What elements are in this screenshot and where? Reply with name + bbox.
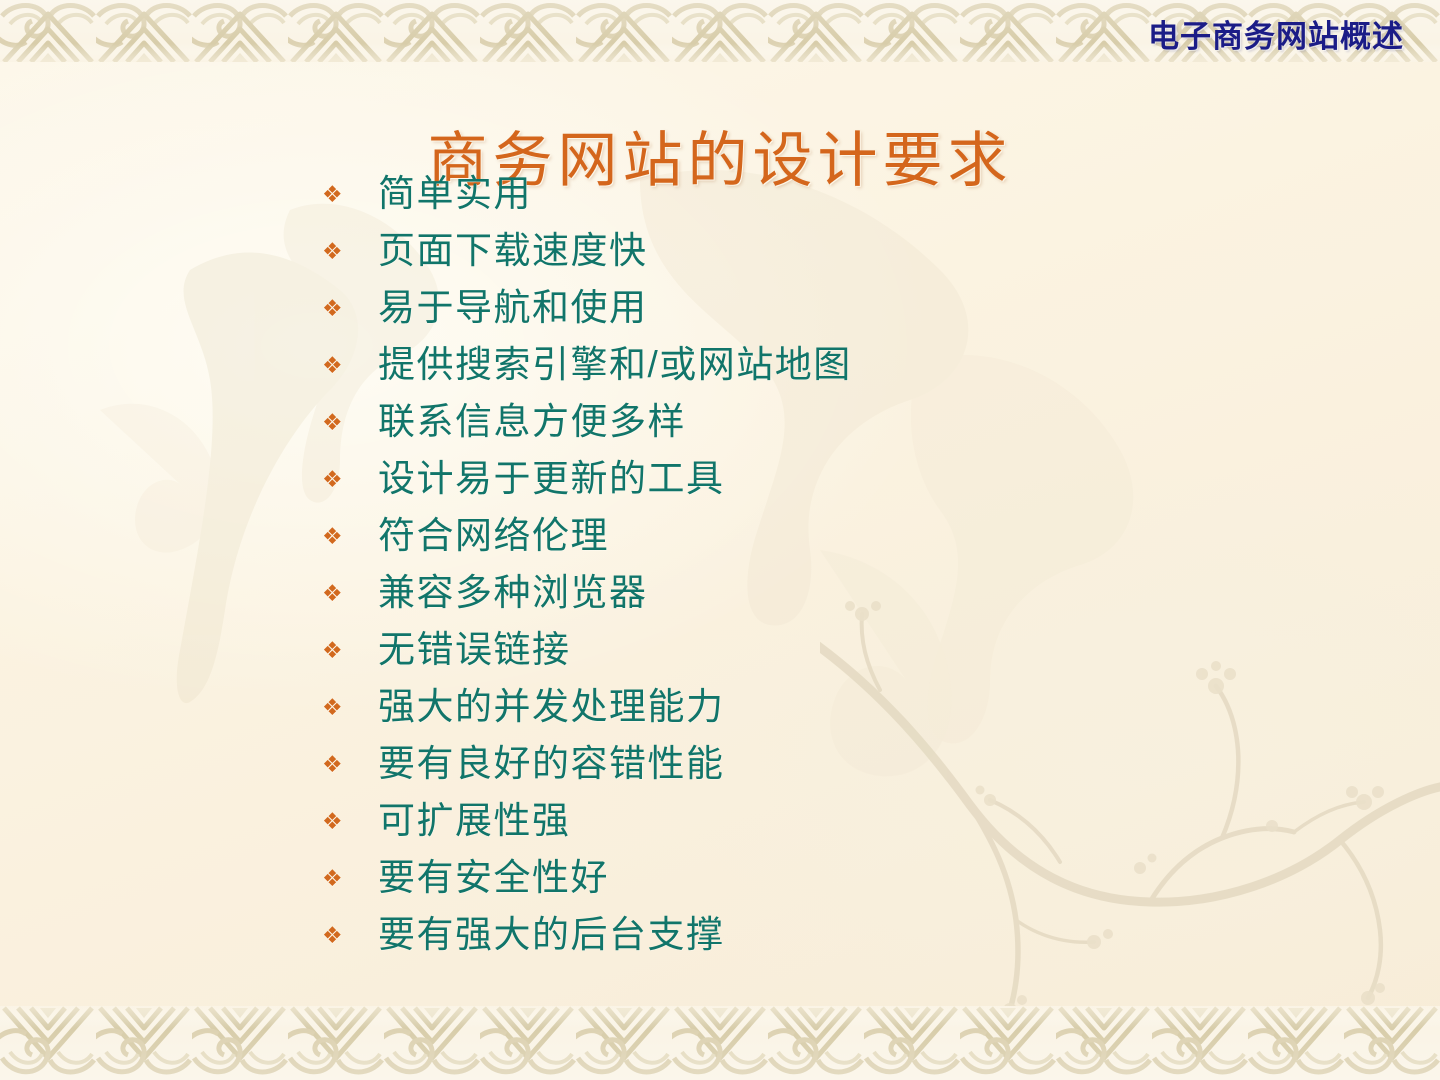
- list-item: ❖提供搜索引擎和/或网站地图: [322, 337, 1302, 394]
- diamond-bullet-icon: ❖: [322, 639, 378, 662]
- list-item: ❖可扩展性强: [322, 793, 1302, 850]
- list-item: ❖强大的并发处理能力: [322, 679, 1302, 736]
- list-item: ❖要有安全性好: [322, 850, 1302, 907]
- diamond-bullet-icon: ❖: [322, 240, 378, 263]
- list-item-label: 设计易于更新的工具: [378, 460, 725, 499]
- diamond-bullet-icon: ❖: [322, 696, 378, 719]
- list-item: ❖要有良好的容错性能: [322, 736, 1302, 793]
- slide: 电子商务网站概述 商务网站的设计要求 ❖简单实用❖页面下载速度快❖易于导航和使用…: [0, 0, 1440, 1080]
- list-item-label: 联系信息方便多样: [378, 403, 686, 442]
- list-item: ❖要有强大的后台支撑: [322, 907, 1302, 964]
- list-item-label: 页面下载速度快: [378, 232, 648, 271]
- list-item-label: 要有强大的后台支撑: [378, 916, 725, 955]
- list-item-label: 要有良好的容错性能: [378, 745, 725, 784]
- list-item-label: 可扩展性强: [378, 802, 571, 841]
- diamond-bullet-icon: ❖: [322, 582, 378, 605]
- diamond-bullet-icon: ❖: [322, 354, 378, 377]
- list-item-label: 简单实用: [378, 175, 532, 214]
- diamond-bullet-icon: ❖: [322, 411, 378, 434]
- list-item: ❖兼容多种浏览器: [322, 565, 1302, 622]
- list-item: ❖符合网络伦理: [322, 508, 1302, 565]
- requirements-list: ❖简单实用❖页面下载速度快❖易于导航和使用❖提供搜索引擎和/或网站地图❖联系信息…: [322, 166, 1302, 964]
- running-header-title: 电子商务网站概述: [1148, 11, 1404, 56]
- diamond-bullet-icon: ❖: [322, 525, 378, 548]
- diamond-bullet-icon: ❖: [322, 297, 378, 320]
- diamond-bullet-icon: ❖: [322, 468, 378, 491]
- list-item-label: 无错误链接: [378, 631, 571, 670]
- list-item-label: 强大的并发处理能力: [378, 688, 725, 727]
- diamond-bullet-icon: ❖: [322, 810, 378, 833]
- list-item-label: 符合网络伦理: [378, 517, 609, 556]
- list-item-label: 易于导航和使用: [378, 289, 648, 328]
- list-item: ❖易于导航和使用: [322, 280, 1302, 337]
- list-item: ❖简单实用: [322, 166, 1302, 223]
- list-item-label: 提供搜索引擎和/或网站地图: [378, 346, 852, 385]
- list-item: ❖页面下载速度快: [322, 223, 1302, 280]
- diamond-bullet-icon: ❖: [322, 183, 378, 206]
- list-item-label: 兼容多种浏览器: [378, 574, 648, 613]
- diamond-bullet-icon: ❖: [322, 924, 378, 947]
- list-item: ❖设计易于更新的工具: [322, 451, 1302, 508]
- list-item-label: 要有安全性好: [378, 859, 609, 898]
- list-item: ❖联系信息方便多样: [322, 394, 1302, 451]
- diamond-bullet-icon: ❖: [322, 867, 378, 890]
- list-item: ❖无错误链接: [322, 622, 1302, 679]
- diamond-bullet-icon: ❖: [322, 753, 378, 776]
